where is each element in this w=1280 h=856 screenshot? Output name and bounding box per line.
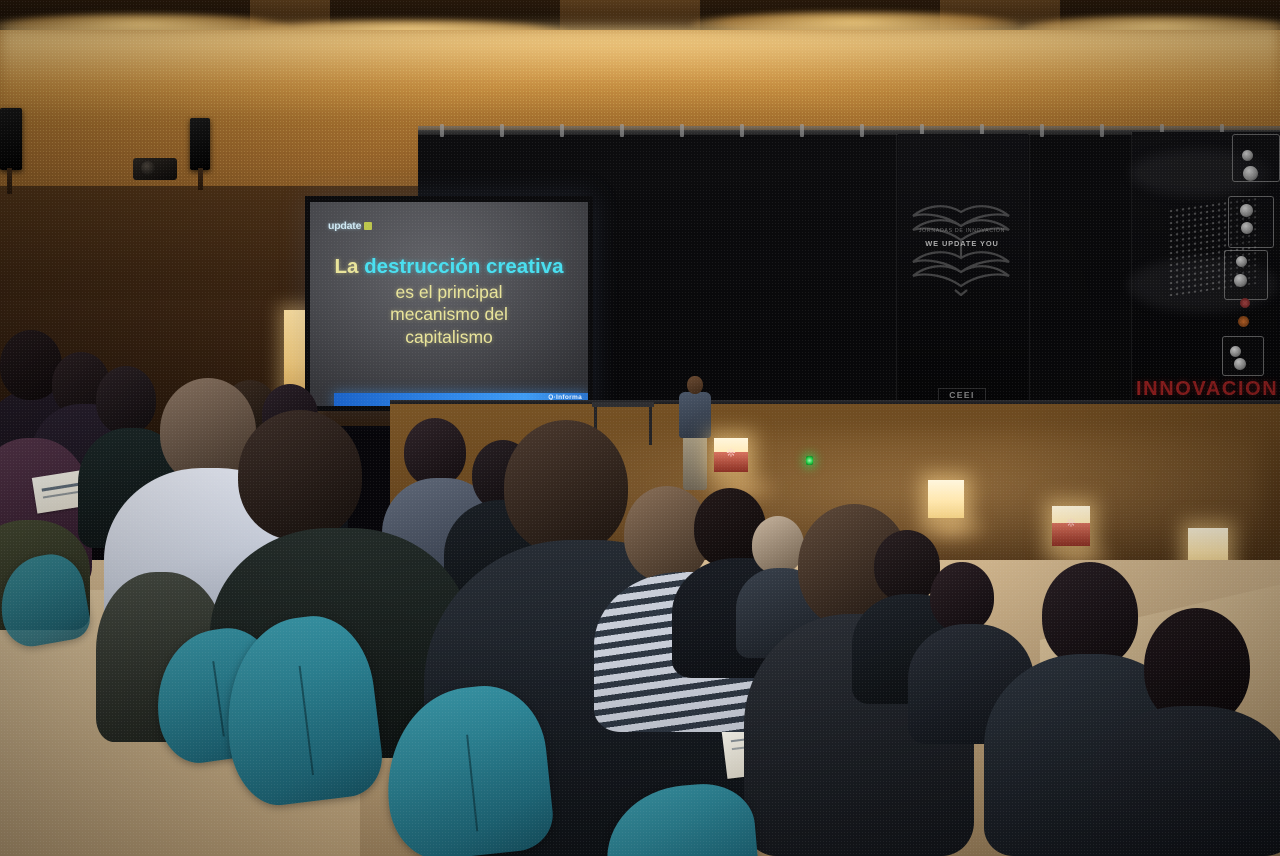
audience-head (504, 420, 628, 554)
audience-head (404, 418, 466, 486)
slide-line-4: capitalismo (310, 326, 588, 349)
innovacion-banner-word: INNOVACION (1136, 378, 1278, 401)
stage-light-box: ❊ (714, 438, 748, 472)
slide-line-1-plain: La (334, 255, 364, 278)
slide-line-1: La destrucción creativa (310, 254, 588, 281)
audience-member (1092, 706, 1280, 856)
conference-hall-photo: JORNADAS DE INNOVACIÓN WE UPDATE YOU CEE… (0, 0, 1280, 856)
pa-speaker (190, 118, 210, 170)
stage-light-box (928, 480, 964, 518)
slide-line-3: mecanismo del (310, 303, 588, 326)
camera-lens-icon (141, 161, 155, 175)
audience-head (96, 366, 156, 434)
green-status-light (806, 456, 813, 465)
pa-speaker-stand (198, 168, 203, 190)
projection-screen: update La destrucción creativa es el pri… (310, 202, 588, 406)
flower-motif-icon: ❊ (726, 448, 735, 459)
audience-head (238, 410, 362, 540)
slide-line-1-highlight: destrucción creativa (364, 255, 563, 278)
slide-logo-text: update (328, 220, 361, 232)
audience-head (752, 516, 804, 574)
pa-speaker (0, 108, 22, 170)
wall-light-wash (0, 28, 1280, 118)
slide-line-2: es el principal (310, 281, 588, 304)
banner-emblem-tagline: WE UPDATE YOU (903, 239, 1021, 248)
audience-head (930, 562, 994, 632)
banner-emblem-title: JORNADAS DE INNOVACIÓN (903, 228, 1021, 234)
stage-light-box: ❊ (1052, 506, 1090, 546)
flower-motif-icon: ❊ (1066, 519, 1075, 530)
slide-body: La destrucción creativa es el principal … (310, 254, 588, 349)
presenter-head (687, 376, 703, 394)
audience-head (1042, 562, 1138, 668)
video-camera-icon (133, 158, 177, 180)
pa-speaker-stand (7, 168, 12, 194)
presenter-torso (679, 392, 711, 438)
slide-logo: update (328, 220, 372, 232)
square-badge-icon (364, 222, 372, 230)
